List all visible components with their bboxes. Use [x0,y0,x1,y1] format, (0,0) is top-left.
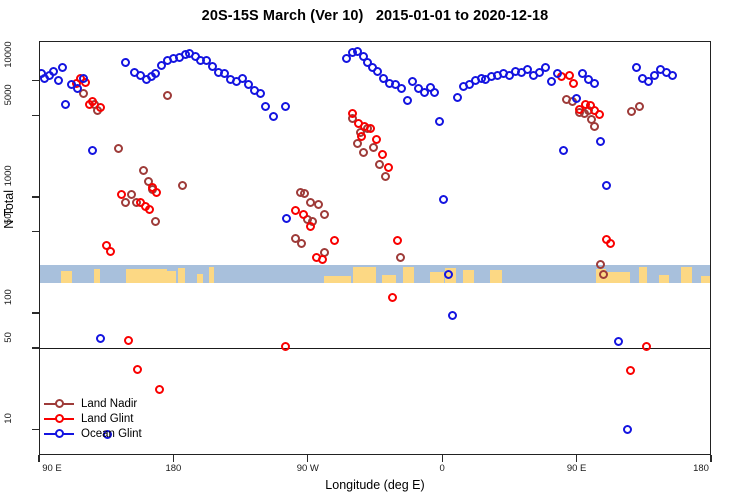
x-axis-tick-label: 90 W [297,463,319,474]
y-axis-tick-label: 10000 [3,41,14,67]
x-axis-tick [38,455,39,462]
legend-swatch [44,413,74,425]
x-axis-tick [710,455,711,462]
legend-label: Ocean Glint [81,428,142,440]
x-axis-tick [173,455,174,462]
chart-title: 20S-15S March (Ver 10) 2015-01-01 to 202… [0,8,750,24]
y-axis-tick-label: 50 [3,332,14,343]
y-axis-tick-label: 100 [3,289,14,305]
x-axis-tick-label: 180 [165,463,181,474]
legend-item: Land Nadir [44,396,142,411]
legend-marker-icon [55,399,64,408]
y-axis-tick [32,196,39,197]
x-axis-label: Longitude (deg E) [0,478,750,492]
y-axis-tick-label: 5000 [3,84,14,105]
x-axis-tick [576,455,577,462]
y-axis-tick [32,80,39,81]
y-axis-tick [32,115,39,116]
y-axis-tick-label: 1000 [3,165,14,186]
legend-swatch [44,398,74,410]
y-axis-tick [32,231,39,232]
chart-legend: Land NadirLand GlintOcean Glint [44,396,142,441]
x-axis-tick-label: 180 [693,463,709,474]
plot-frame [39,41,711,455]
x-axis-tick-label: 90 E [42,463,62,474]
x-axis-tick-label: 0 [440,463,445,474]
scatter-plot-figure: 20S-15S March (Ver 10) 2015-01-01 to 202… [0,0,750,500]
x-axis-tick-label: 90 E [567,463,587,474]
x-axis-tick [442,455,443,462]
legend-item: Land Glint [44,411,142,426]
y-axis-tick-label: 500 [3,208,14,224]
y-axis-tick [32,429,39,430]
legend-marker-icon [55,429,64,438]
legend-label: Land Nadir [81,398,137,410]
y-axis-tick [32,347,39,348]
x-axis-tick [307,455,308,462]
y-axis-tick-label: 10 [3,413,14,424]
y-axis-tick [32,312,39,313]
legend-marker-icon [55,414,64,423]
legend-swatch [44,428,74,440]
legend-item: Ocean Glint [44,426,142,441]
legend-label: Land Glint [81,413,133,425]
